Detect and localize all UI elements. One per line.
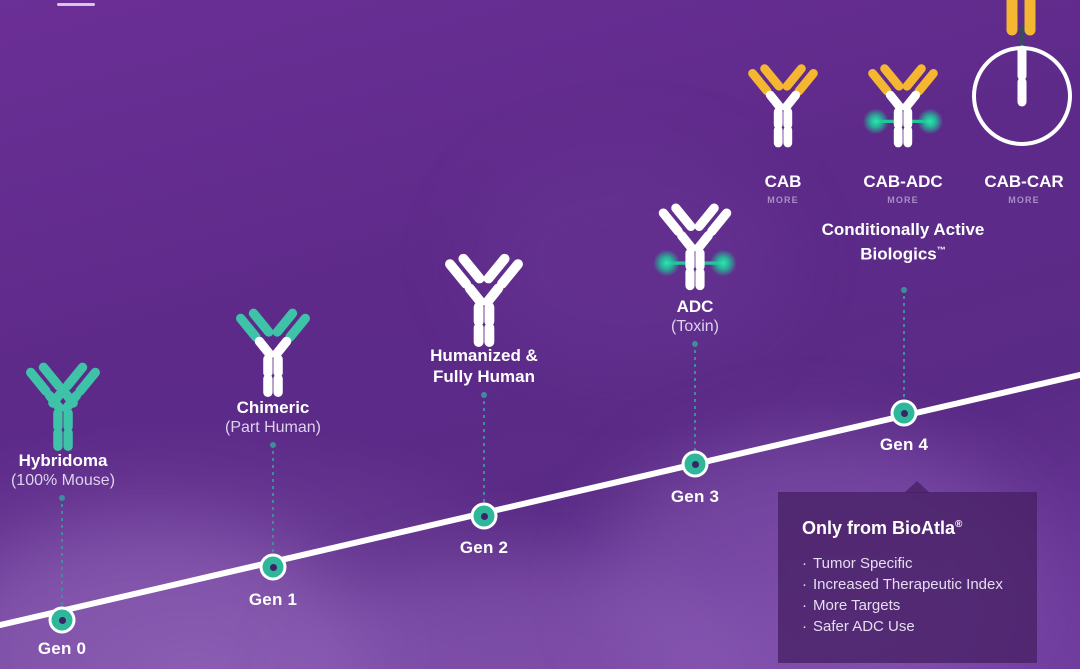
stage-title-adc: ADC [671,296,719,317]
stage-caption-cab-car[interactable]: CAB-CAR MORE [984,171,1063,207]
group-heading-line1: Conditionally Active [822,220,985,239]
connector-gen2 [483,394,485,510]
antibody-figure-chimeric[interactable] [222,303,324,406]
gen-label-gen4: Gen 4 [880,435,928,455]
background-blob-2 [300,560,760,669]
stage-subtitle-adc: (Toxin) [671,317,719,337]
stage-subtitle-chimeric: (Part Human) [225,418,321,438]
stage-caption-cab-adc[interactable]: CAB-ADC MORE [863,171,942,207]
info-card-title-text: Only from BioAtla [802,518,955,538]
car-cell-figure-cab-car[interactable] [964,0,1080,153]
timeline-marker-gen3[interactable] [685,454,706,475]
stage-caption-hybridoma: Hybridoma (100% Mouse) [11,450,115,491]
gen-label-gen1: Gen 1 [249,590,297,610]
list-item: Increased Therapeutic Index [802,574,1013,595]
stage-subtitle-hybridoma: (100% Mouse) [11,471,115,491]
timeline-marker-gen0[interactable] [52,610,73,631]
timeline-marker-gen1[interactable] [263,557,284,578]
gen-label-gen0: Gen 0 [38,639,86,659]
stage-title-hybridoma: Hybridoma [11,450,115,471]
timeline-marker-gen4[interactable] [894,403,915,424]
trademark-symbol: ™ [937,245,946,255]
registered-symbol: ® [955,519,962,530]
antibody-figure-hybridoma[interactable] [12,357,114,460]
connector-gen1 [272,444,274,561]
stage-caption-chimeric: Chimeric (Part Human) [225,397,321,438]
more-link-cab[interactable]: MORE [765,193,802,207]
list-item: More Targets [802,595,1013,616]
group-heading-conditionally-active-biologics: Conditionally Active Biologics™ [822,219,985,265]
antibody-figure-cab[interactable] [735,59,831,156]
antibody-figure-adc[interactable] [645,198,745,299]
antibody-figure-humanized[interactable] [430,248,538,356]
stage-caption-cab[interactable]: CAB MORE [765,171,802,207]
connector-gen0 [61,497,63,614]
more-link-cab-car[interactable]: MORE [984,193,1063,207]
info-card-pointer [904,481,930,493]
stage-title-cab: CAB [765,171,802,192]
infographic-canvas: Gen 0 Gen 1 Gen 2 Gen 3 Gen 4 [0,0,1080,669]
connector-gen4 [903,289,905,407]
stage-caption-adc: ADC (Toxin) [671,296,719,337]
group-heading-line2: Biologics [860,245,937,264]
info-card-bullet-list: Tumor Specific Increased Therapeutic Ind… [802,553,1013,637]
info-card: Only from BioAtla® Tumor Specific Increa… [778,492,1037,663]
stage-caption-humanized: Humanized & Fully Human [430,345,538,387]
antibody-figure-cab-adc[interactable] [855,59,951,156]
more-link-cab-adc[interactable]: MORE [863,193,942,207]
stage-title-cab-adc: CAB-ADC [863,171,942,192]
stage-title-humanized-line2: Fully Human [430,366,538,387]
gen-label-gen2: Gen 2 [460,538,508,558]
info-card-title: Only from BioAtla® [802,514,1013,539]
stage-title-cab-car: CAB-CAR [984,171,1063,192]
connector-gen3 [694,343,696,458]
gen-label-gen3: Gen 3 [671,487,719,507]
list-item: Tumor Specific [802,553,1013,574]
top-accent-bar [57,3,95,6]
timeline-marker-gen2[interactable] [474,506,495,527]
stage-title-chimeric: Chimeric [225,397,321,418]
list-item: Safer ADC Use [802,616,1013,637]
stage-title-humanized: Humanized & [430,345,538,366]
